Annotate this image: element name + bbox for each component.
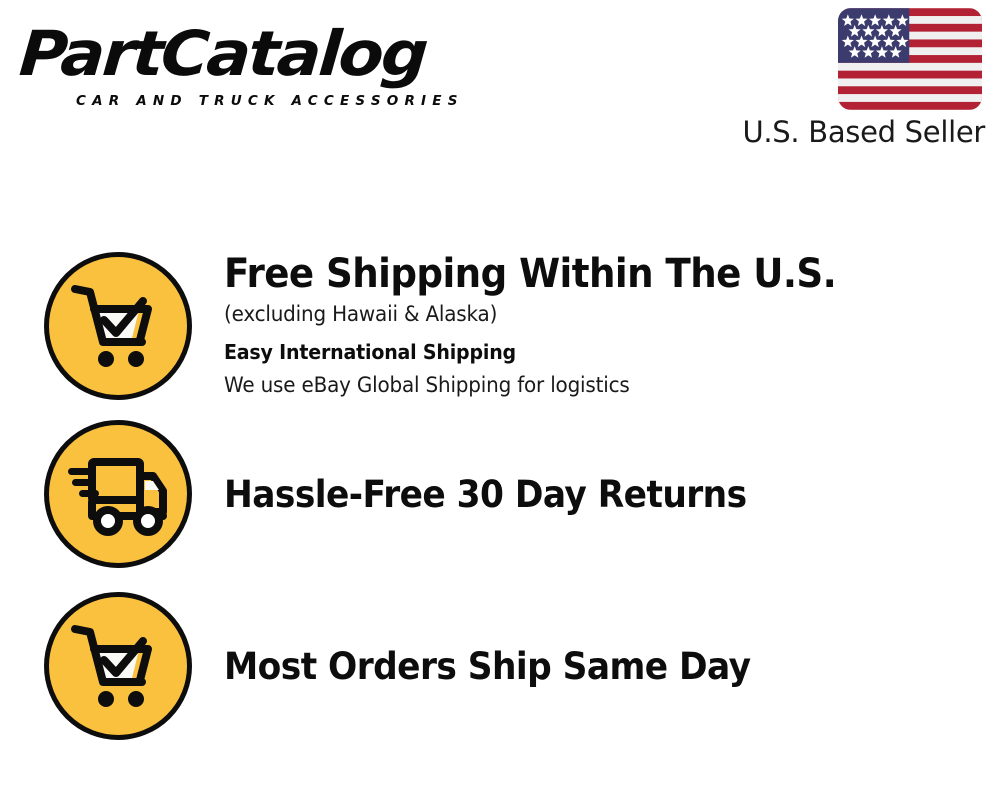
feature-detail: We use eBay Global Shipping for logistic… [224, 369, 942, 401]
brand-tagline: CAR AND TRUCK ACCESSORIES [76, 93, 464, 109]
shopping-cart-check-icon [44, 252, 192, 400]
brand-logo[interactable]: PartCatalog CAR AND TRUCK ACCESSORIES [22, 22, 492, 114]
feature-row: Most Orders Ship Same Day [0, 592, 1000, 740]
feature-row: Hassle-Free 30 Day Returns [0, 420, 1000, 568]
page-header: PartCatalog CAR AND TRUCK ACCESSORIES [0, 0, 1000, 175]
feature-note: (excluding Hawaii & Alaska) [224, 298, 942, 330]
feature-text: Most Orders Ship Same Day [224, 644, 1000, 689]
seller-label: U.S. Based Seller [706, 115, 985, 149]
feature-row: Free Shipping Within The U.S. (excluding… [0, 250, 1000, 401]
feature-title: Hassle-Free 30 Day Returns [224, 472, 927, 517]
brand-wordmark: PartCatalog [17, 22, 520, 86]
feature-text: Free Shipping Within The U.S. (excluding… [224, 250, 1000, 401]
feature-text: Hassle-Free 30 Day Returns [224, 472, 1000, 517]
shopping-cart-check-icon [44, 592, 192, 740]
feature-subtitle: Easy International Shipping [224, 336, 942, 369]
us-flag-icon [838, 8, 982, 110]
seller-badge: U.S. Based Seller [706, 8, 986, 149]
delivery-truck-icon [44, 420, 192, 568]
feature-title: Most Orders Ship Same Day [224, 644, 927, 689]
feature-title: Free Shipping Within The U.S. [224, 250, 927, 298]
